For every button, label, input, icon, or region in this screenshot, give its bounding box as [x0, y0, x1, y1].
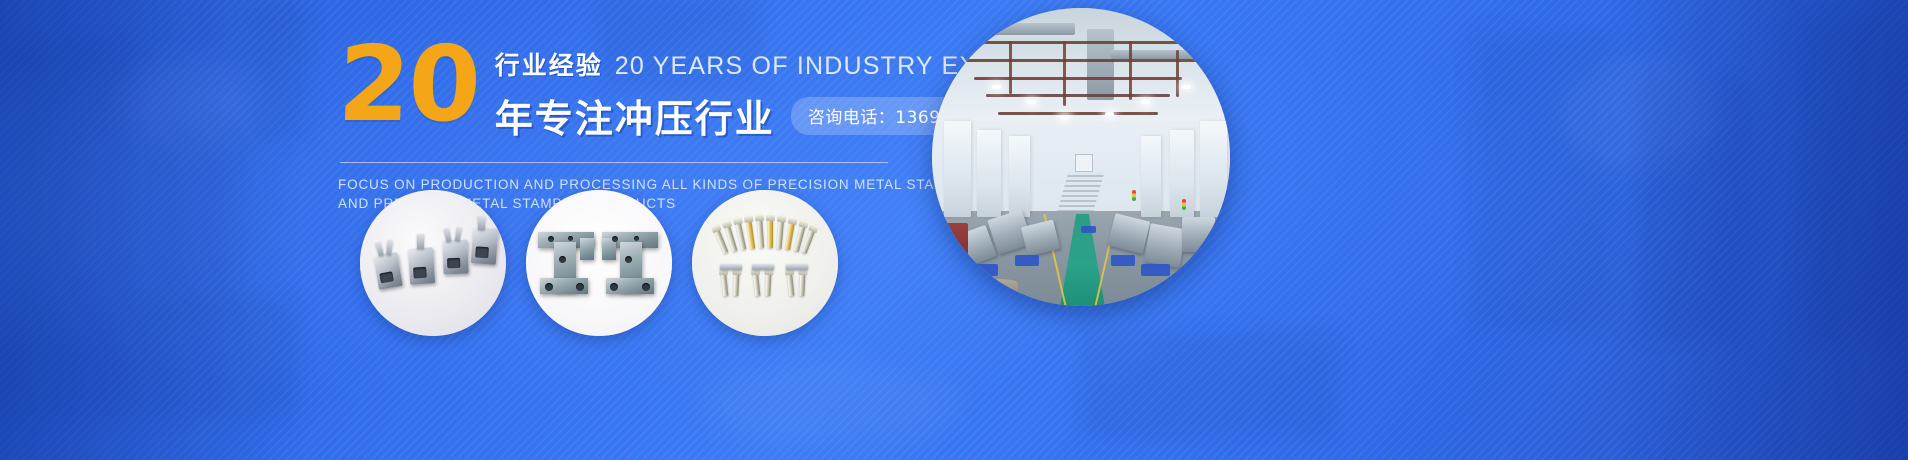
promo-banner: 20 行业经验 20 YEARS OF INDUSTRY EXPERIENCE …	[0, 0, 1908, 460]
factory-workshop-photo[interactable]	[932, 8, 1230, 306]
circle-background	[526, 190, 672, 336]
circle-background	[692, 190, 838, 336]
cn-subtitle: 行业经验	[495, 46, 603, 82]
divider-line	[340, 162, 888, 163]
product-circle-row	[360, 190, 838, 336]
product-circle-terminal-pins[interactable]	[692, 190, 838, 336]
cn-main-title: 年专注冲压行业	[495, 88, 775, 143]
product-circle-mold[interactable]	[526, 190, 672, 336]
product-circle-connectors[interactable]	[360, 190, 506, 336]
years-number: 20	[336, 40, 480, 129]
